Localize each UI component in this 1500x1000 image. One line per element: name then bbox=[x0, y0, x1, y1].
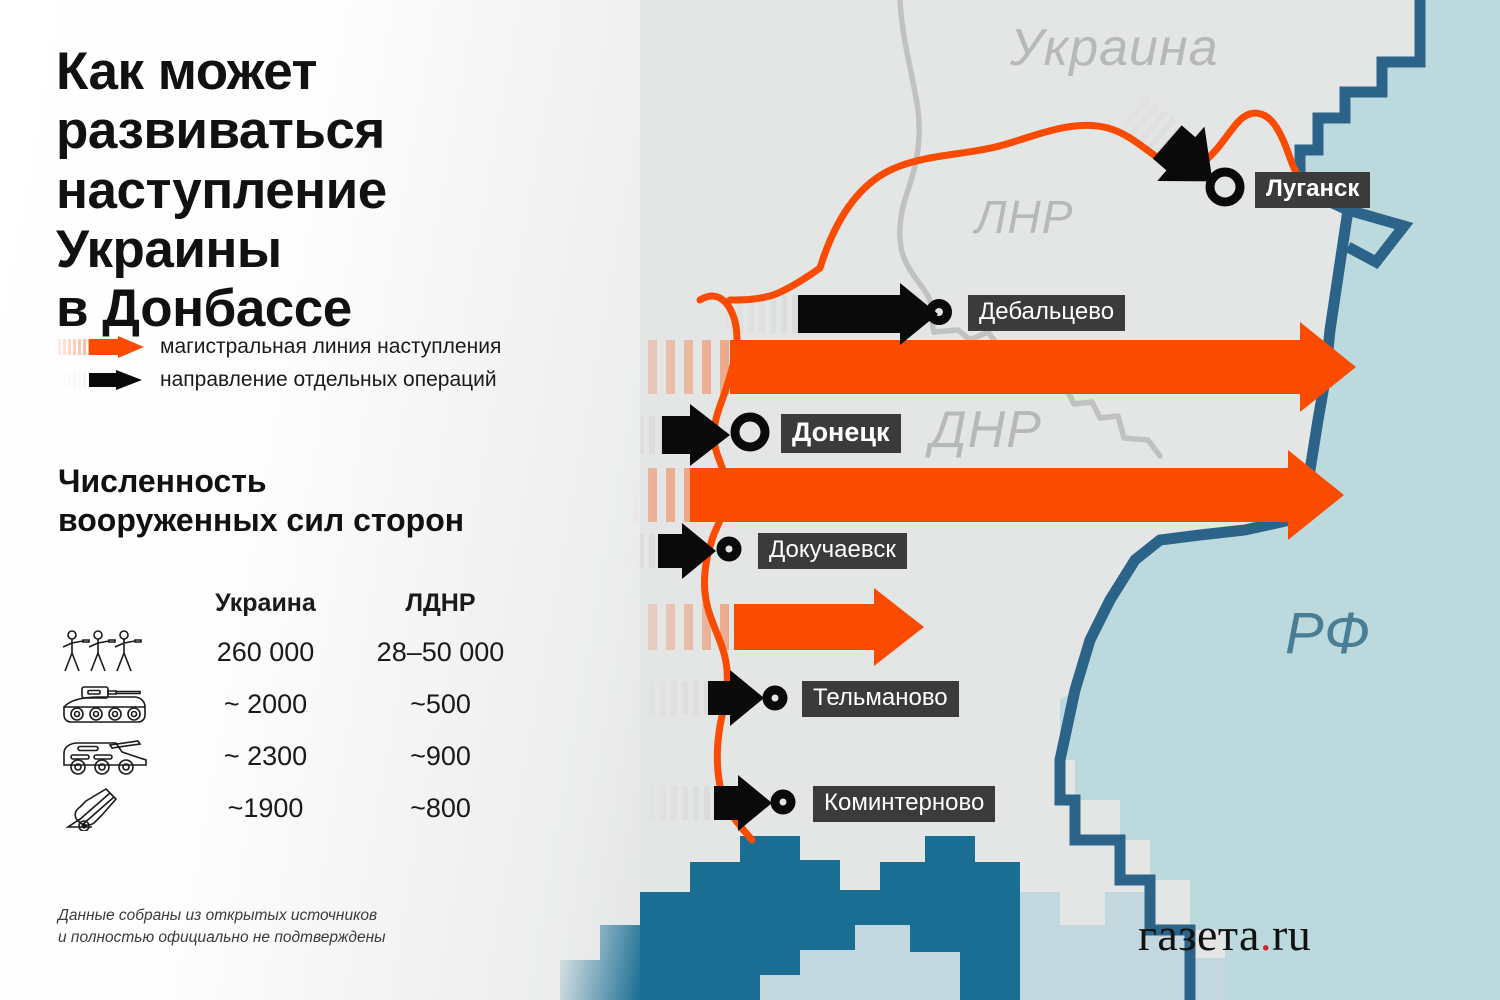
table-row: ~ 2000 ~500 bbox=[58, 678, 528, 730]
cell-ukraine-apc: ~ 2300 bbox=[178, 741, 353, 772]
table-row: ~ 2300 ~900 bbox=[58, 730, 528, 782]
brand-logo-name: газета bbox=[1138, 909, 1260, 960]
city-label-kominternovo[interactable]: Коминтерново bbox=[813, 786, 995, 822]
footnote-line-2: и полностью официально не подтверждены bbox=[58, 927, 488, 949]
city-label-dokuchaevsk[interactable]: Докучаевск bbox=[758, 533, 907, 569]
forces-table: Украина ЛДНР bbox=[58, 580, 528, 834]
legend-item-operations: направление отдельных операций bbox=[58, 365, 628, 394]
artillery-icon bbox=[58, 782, 178, 834]
cell-ldnr-apc: ~900 bbox=[353, 741, 528, 772]
legend-label-main-line: магистральная линия наступления bbox=[160, 335, 501, 359]
region-label-ukraine: Украина bbox=[1010, 18, 1219, 78]
table-row: ~1900 ~800 bbox=[58, 782, 528, 834]
page-title-line-3: в Донбассе bbox=[56, 279, 616, 338]
tank-icon bbox=[58, 678, 178, 730]
cell-ldnr-artillery: ~800 bbox=[353, 793, 528, 824]
city-label-lugansk[interactable]: Луганск bbox=[1255, 172, 1370, 208]
footnote-line-1: Данные собраны из открытых источников bbox=[58, 905, 488, 927]
legend-item-main-line: магистральная линия наступления bbox=[58, 332, 628, 361]
region-label-rf: РФ bbox=[1285, 600, 1371, 667]
footnote: Данные собраны из открытых источников и … bbox=[58, 905, 488, 950]
cell-ukraine-tanks: ~ 2000 bbox=[178, 689, 353, 720]
table-row: 260 000 28–50 000 bbox=[58, 626, 528, 678]
cell-ukraine-artillery: ~1900 bbox=[178, 793, 353, 824]
column-header-ldnr: ЛДНР bbox=[353, 589, 528, 618]
cell-ukraine-personnel: 260 000 bbox=[178, 637, 353, 668]
page-title-line-1: Как может развиваться bbox=[56, 42, 616, 161]
cell-ldnr-tanks: ~500 bbox=[353, 689, 528, 720]
soldiers-icon bbox=[58, 626, 178, 678]
header-icon-spacer bbox=[58, 577, 178, 629]
page-title-line-2: наступление Украины bbox=[56, 161, 616, 280]
orange-arrow-icon bbox=[58, 336, 144, 358]
brand-logo[interactable]: газета.ru bbox=[1138, 908, 1311, 961]
region-label-lnr: ЛНР bbox=[975, 190, 1073, 244]
region-label-dnr: ДНР bbox=[930, 400, 1042, 460]
cell-ldnr-personnel: 28–50 000 bbox=[353, 637, 528, 668]
legend: магистральная линия наступления bbox=[58, 332, 628, 398]
brand-logo-dot: . bbox=[1260, 909, 1272, 960]
forces-title: Численность вооруженных сил сторон bbox=[58, 462, 578, 540]
page-title: Как может развиваться наступление Украин… bbox=[56, 42, 616, 339]
black-arrow-icon bbox=[58, 369, 144, 391]
city-label-debaltsevo[interactable]: Дебальцево bbox=[968, 295, 1125, 331]
brand-logo-tld: ru bbox=[1272, 909, 1311, 960]
forces-title-line-1: Численность bbox=[58, 462, 578, 501]
forces-table-header: Украина ЛДНР bbox=[58, 580, 528, 626]
column-header-ukraine: Украина bbox=[178, 589, 353, 618]
city-label-donetsk[interactable]: Донецк bbox=[781, 414, 901, 453]
legend-label-operations: направление отдельных операций bbox=[160, 368, 497, 392]
forces-title-line-2: вооруженных сил сторон bbox=[58, 501, 578, 540]
city-label-telmanovo[interactable]: Тельманово bbox=[802, 681, 959, 717]
apc-icon bbox=[58, 730, 178, 782]
infographic-root: Украина ЛНР ДНР РФ Луганск Дебальцево До… bbox=[0, 0, 1500, 1000]
